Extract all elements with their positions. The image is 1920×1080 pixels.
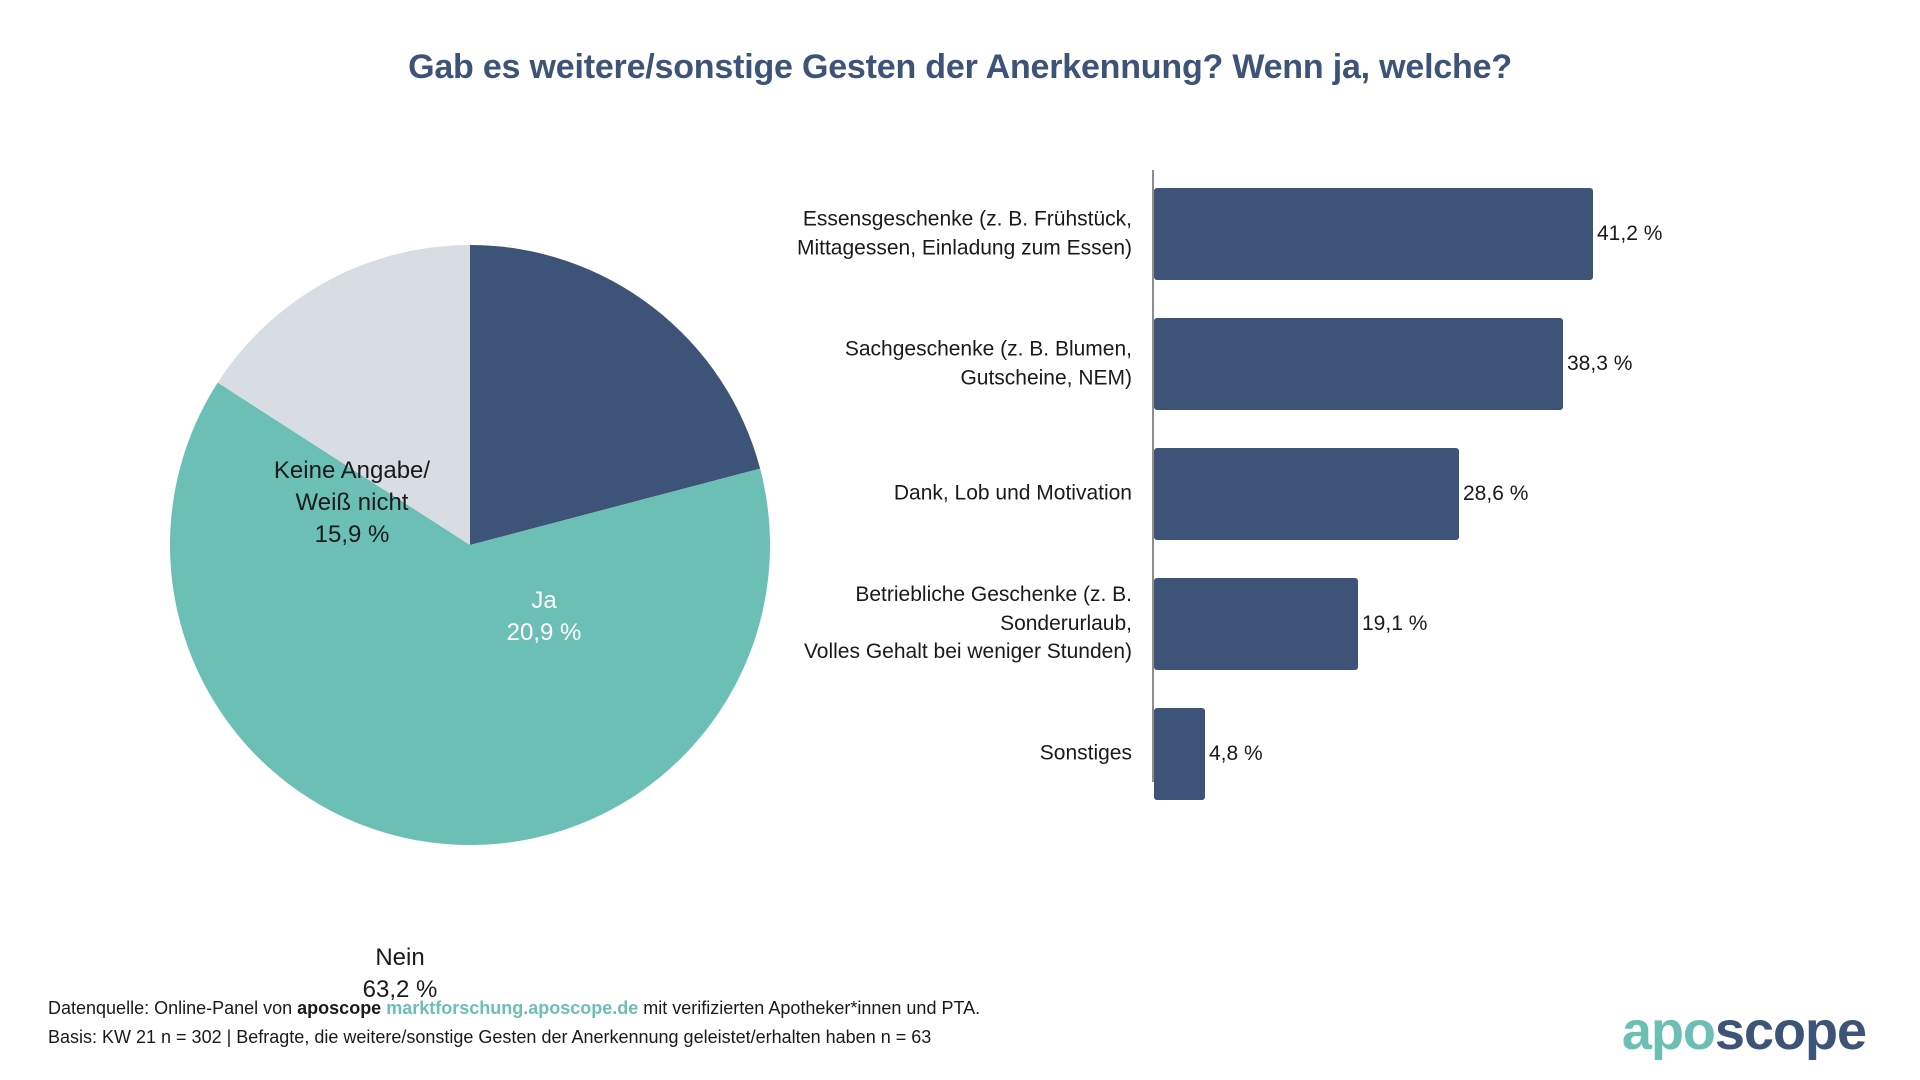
logo-scope-text: scope [1715,1001,1866,1061]
bar-rect[interactable] [1154,188,1593,280]
page-title: Gab es weitere/sonstige Gesten der Anerk… [0,48,1920,87]
bar-category-line1: Sonstiges [732,740,1132,769]
bar-category-line1: Betriebliche Geschenke (z. B. Sonderurla… [732,581,1132,638]
bar-category-line2: Volles Gehalt bei weniger Stunden) [732,638,1132,667]
footer-source: Datenquelle: Online-Panel von aposcope m… [48,994,980,1052]
bar-value-label: 38,3 % [1567,352,1632,376]
bar-category-label: Sachgeschenke (z. B. Blumen, Gutscheine,… [732,335,1132,392]
pie-label-nein-name: Nein [300,942,500,974]
footer-link[interactable]: marktforschung.aposcope.de [386,998,638,1018]
bar-value-label: 28,6 % [1463,482,1528,506]
bar-chart-panel: Essensgeschenke (z. B. Frühstück, Mittag… [880,170,1860,810]
aposcope-logo: aposcope [1622,1004,1866,1058]
pie-slices [170,245,770,845]
bar-category-label: Betriebliche Geschenke (z. B. Sonderurla… [732,581,1132,667]
bar-category-line1: Essensgeschenke (z. B. Frühstück, [732,205,1132,234]
bar-category-label: Essensgeschenke (z. B. Frühstück, Mittag… [732,205,1132,262]
bar-row: Essensgeschenke (z. B. Frühstück, Mittag… [880,188,1860,280]
bar-row: Betriebliche Geschenke (z. B. Sonderurla… [880,578,1860,670]
bar-category-line2: Mittagessen, Einladung zum Essen) [732,234,1132,263]
footer-line-2: Basis: KW 21 n = 302 | Befragte, die wei… [48,1023,980,1052]
bar-row: Sonstiges 4,8 % [880,708,1860,800]
footer-source-suffix: mit verifizierten Apotheker*innen und PT… [638,998,980,1018]
bar-rect[interactable] [1154,708,1205,800]
footer-line-1: Datenquelle: Online-Panel von aposcope m… [48,994,980,1023]
pie-chart-panel: Ja 20,9 % Nein 63,2 % Keine Angabe/ Weiß… [100,200,860,900]
pie-chart-svg [160,235,780,855]
bar-row: Dank, Lob und Motivation 28,6 % [880,448,1860,540]
bar-row: Sachgeschenke (z. B. Blumen, Gutscheine,… [880,318,1860,410]
bar-rect[interactable] [1154,318,1563,410]
bar-category-line2: Gutscheine, NEM) [732,364,1132,393]
bar-rect[interactable] [1154,448,1459,540]
bar-category-line1: Sachgeschenke (z. B. Blumen, [732,335,1132,364]
bar-category-label: Sonstiges [732,740,1132,769]
footer-brand: aposcope [297,998,381,1018]
footer-source-prefix: Datenquelle: Online-Panel von [48,998,297,1018]
bar-rect[interactable] [1154,578,1358,670]
logo-apo-text: apo [1622,1001,1715,1061]
bar-value-label: 41,2 % [1597,222,1662,246]
bar-category-line1: Dank, Lob und Motivation [732,480,1132,509]
bar-category-label: Dank, Lob und Motivation [732,480,1132,509]
bar-value-label: 4,8 % [1209,742,1263,766]
bar-value-label: 19,1 % [1362,612,1427,636]
